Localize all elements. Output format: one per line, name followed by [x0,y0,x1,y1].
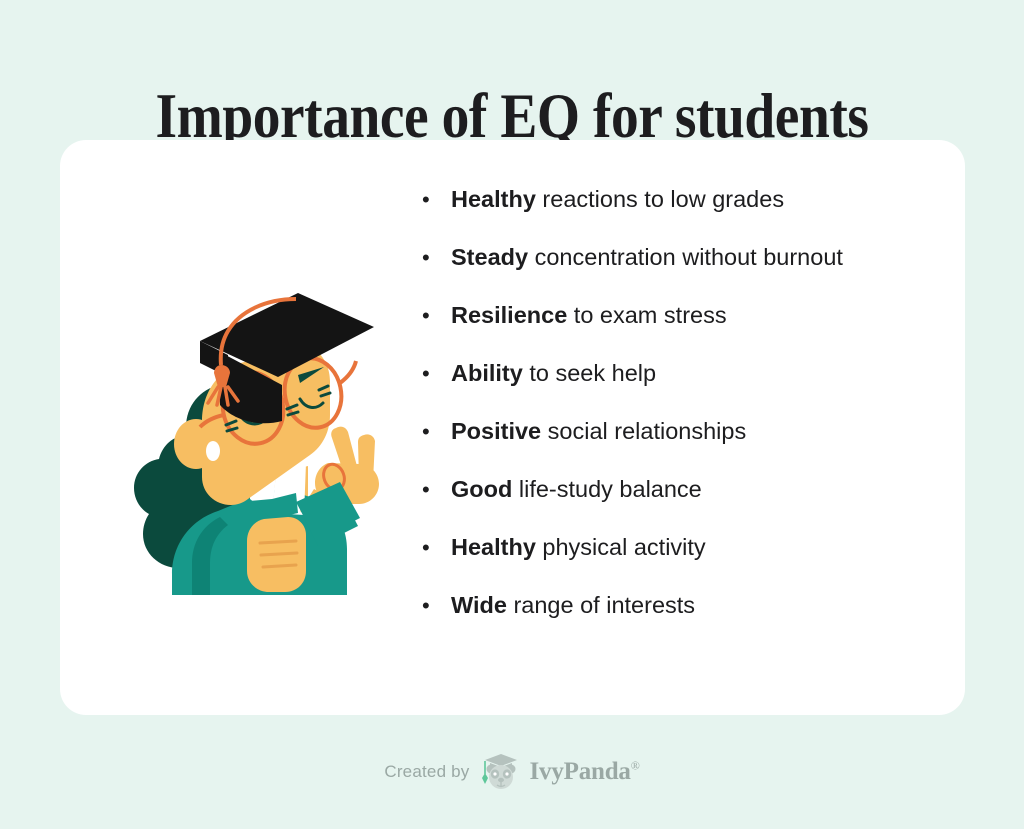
list-item: • Healthy reactions to low grades [415,185,945,243]
bullet-icon: • [415,594,451,618]
list-item-lead: Good [451,476,512,502]
bullet-icon: • [415,478,451,502]
list-item-lead: Steady [451,244,528,270]
bullet-icon: • [415,420,451,444]
list-item-text: Healthy physical activity [451,533,706,561]
created-by-label: Created by [384,762,469,782]
list-item-text: Positive social relationships [451,417,746,445]
bullet-icon: • [415,246,451,270]
panda-graduate-icon [479,752,523,792]
bullet-icon: • [415,536,451,560]
list-item: • Positive social relationships [415,417,945,475]
bullet-icon: • [415,362,451,386]
list-item: • Wide range of interests [415,591,945,649]
ivypanda-logo: IvyPanda® [479,752,640,792]
brand-name: IvyPanda® [530,758,640,786]
list-item-text: Wide range of interests [451,591,695,619]
list-item-lead: Resilience [451,302,567,328]
benefits-list: • Healthy reactions to low grades • Stea… [415,185,945,649]
list-item-lead: Positive [451,418,541,444]
list-item-lead: Healthy [451,534,536,560]
list-item-rest: to seek help [523,360,656,386]
list-item-text: Steady concentration without burnout [451,243,843,271]
list-item-text: Ability to seek help [451,359,656,387]
list-item: • Resilience to exam stress [415,301,945,359]
list-item-rest: range of interests [507,592,695,618]
list-item-rest: to exam stress [567,302,726,328]
list-item: • Ability to seek help [415,359,945,417]
list-item-rest: physical activity [536,534,706,560]
registered-mark: ® [631,759,640,773]
infographic-poster: Importance of EQ for students [0,0,1024,829]
list-item-lead: Ability [451,360,523,386]
list-item: • Good life-study balance [415,475,945,533]
list-item-text: Good life-study balance [451,475,702,503]
bullet-icon: • [415,188,451,212]
list-item-rest: life-study balance [512,476,701,502]
list-item: • Healthy physical activity [415,533,945,591]
list-item-text: Resilience to exam stress [451,301,727,329]
list-item-lead: Wide [451,592,507,618]
list-item-lead: Healthy [451,186,536,212]
lower-hand-shape [247,517,306,592]
list-item-rest: reactions to low grades [536,186,784,212]
list-item: • Steady concentration without burnout [415,243,945,301]
list-item-rest: social relationships [541,418,746,444]
brand-text: IvyPanda [530,758,631,785]
list-item-rest: concentration without burnout [528,244,843,270]
student-graduate-peace-sign-illustration [100,265,400,595]
earring-shape [206,441,220,461]
list-item-text: Healthy reactions to low grades [451,185,784,213]
content-card: • Healthy reactions to low grades • Stea… [60,140,965,715]
bullet-icon: • [415,304,451,328]
footer-attribution: Created by IvyPanda® [0,752,1024,792]
